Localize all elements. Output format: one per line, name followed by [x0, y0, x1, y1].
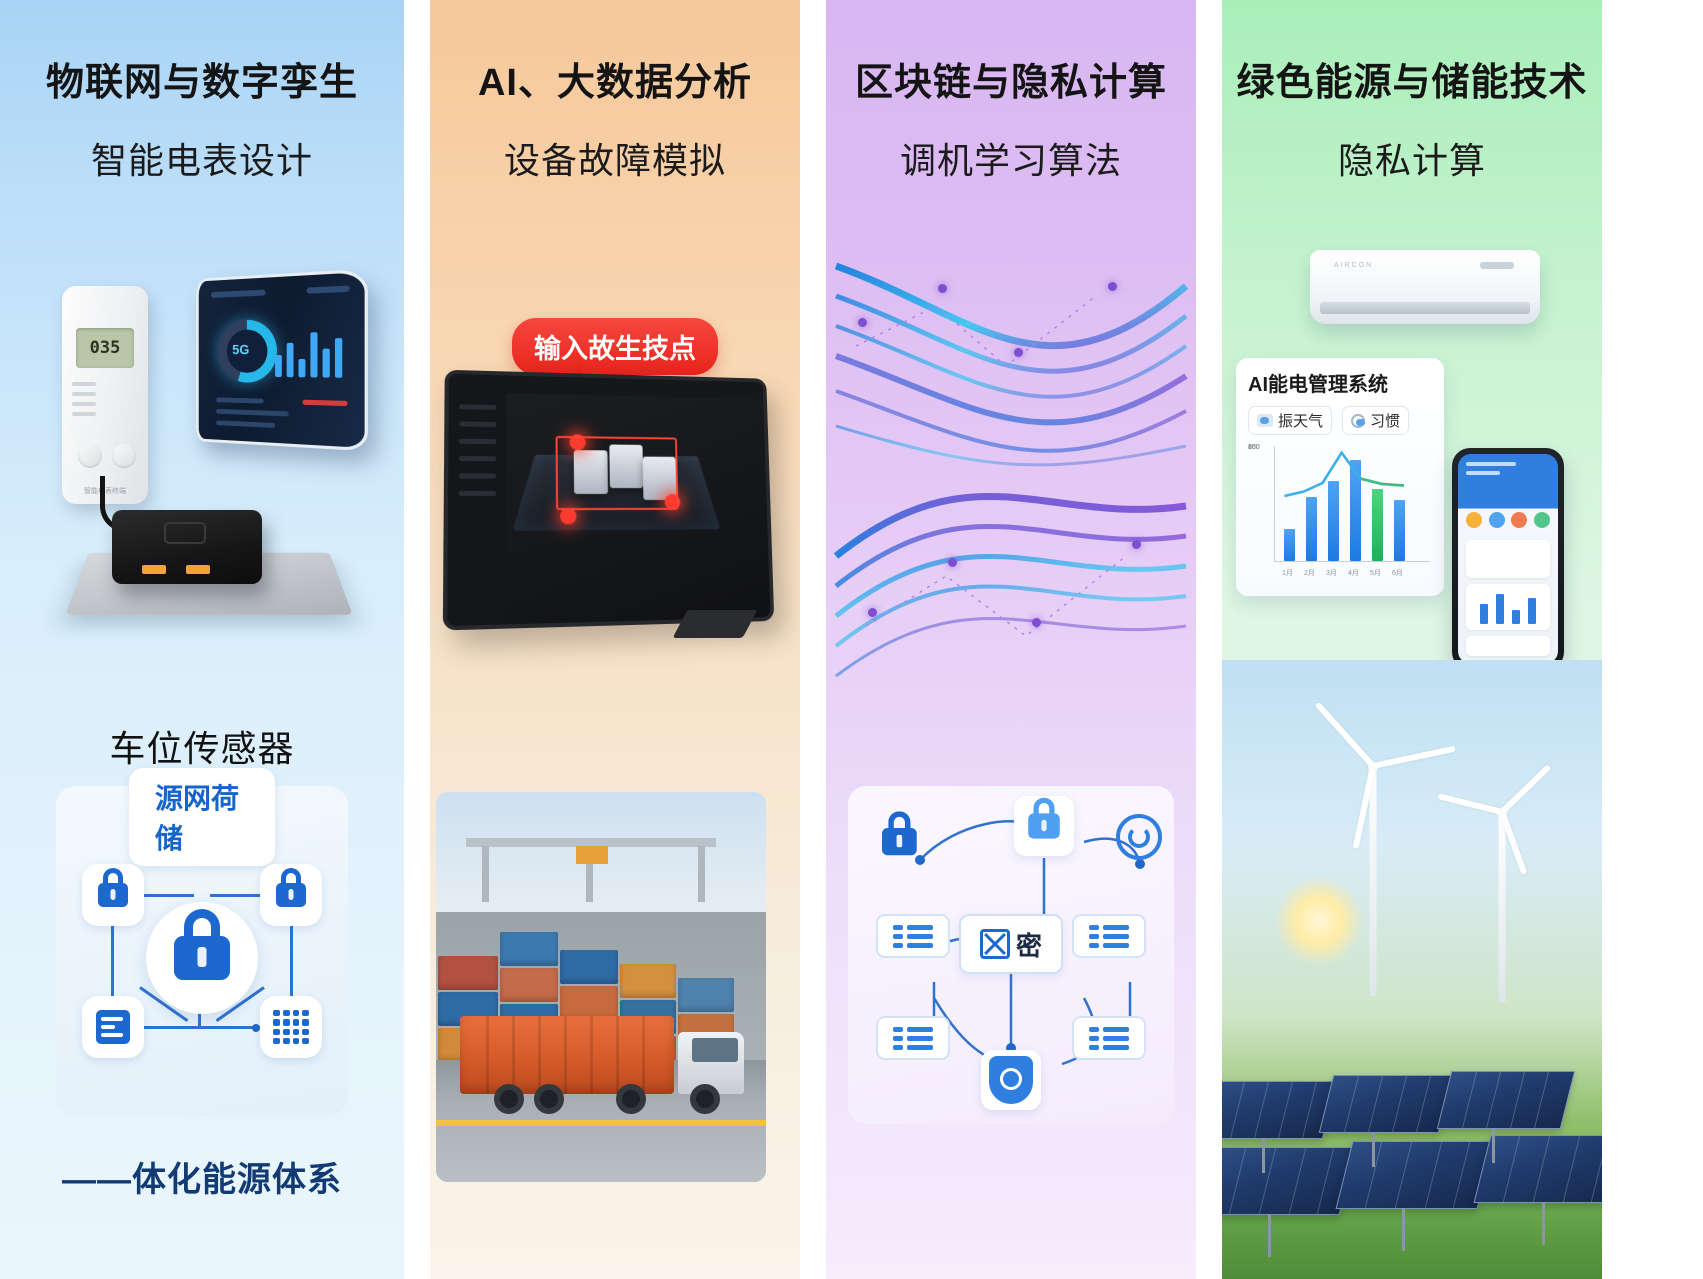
lock-icon-node-tl[interactable] [82, 864, 144, 926]
solar-panel [1437, 1071, 1575, 1129]
gateway-port-right [186, 565, 210, 574]
shield-icon-node[interactable] [981, 1050, 1041, 1110]
truck-wheel-3 [616, 1084, 646, 1114]
container [620, 964, 676, 998]
dashboard-gauge-value: 5G [232, 341, 249, 357]
poster-board: 物联网与数字孪生 智能电表设计 035 智能电表终端 5G [0, 0, 1703, 1279]
port-logistics-photo [436, 792, 766, 1182]
chip-weather[interactable]: 振天气 [1248, 406, 1332, 435]
curved-dashboard-screen: 5G [196, 269, 368, 452]
panel-1-subtitle: 智能电表设计 [0, 140, 404, 181]
dashboard-header-bar-right [306, 285, 349, 293]
energy-usage-chart: 200 160 150 100 60 30 1月 2月 3月 [1248, 444, 1432, 582]
edge-dot-4 [252, 1024, 260, 1032]
container [500, 932, 558, 966]
records-icon [893, 1027, 933, 1050]
dashboard-alert-row [302, 400, 347, 406]
records-icon [1089, 925, 1129, 948]
spiral-icon-node[interactable] [1116, 814, 1162, 860]
network-node [1132, 540, 1141, 549]
encryption-core-label: 密 [1016, 926, 1042, 963]
x-tick-2: 2月 [1304, 568, 1315, 578]
lock-icon-node-top[interactable] [1014, 796, 1074, 856]
ac-vent-icon [1320, 302, 1530, 314]
chip-habit[interactable]: 习惯 [1342, 406, 1409, 435]
solar-panel [1336, 1141, 1495, 1209]
phone-header [1466, 462, 1550, 502]
renewable-energy-photo [1222, 660, 1602, 1279]
truck-window [692, 1038, 738, 1062]
phone-quick-actions[interactable] [1466, 512, 1550, 528]
y-tick-5: 30 [1248, 444, 1256, 451]
panel-2-headings: AI、大数据分析 设备故障模拟 [430, 0, 800, 181]
edge-left-vertical [111, 926, 114, 996]
meter-display-value: 035 [76, 328, 134, 368]
turbine-blade [1315, 702, 1376, 768]
server-icon-node[interactable] [82, 996, 144, 1058]
truck-container-body [460, 1016, 674, 1094]
network-node [1032, 618, 1041, 627]
gateway-lid-icon [164, 522, 206, 544]
lock-icon-node-left[interactable] [882, 828, 938, 877]
chart-x-axis [1274, 561, 1430, 562]
column-gap-1 [404, 0, 430, 1279]
dashboard-row-2 [216, 409, 288, 417]
blockchain-swirl-svg [826, 226, 1196, 696]
panel-green-energy: 绿色能源与储能技术 隐私计算 AIRCON AI能电管理系统 振天气 习惯 [1222, 0, 1602, 1279]
solar-panel-array [1222, 1029, 1602, 1279]
panel-3-title: 区块链与隐私计算 [826, 62, 1196, 106]
lock-icon [1028, 813, 1060, 838]
panel-1-title: 物联网与数字孪生 [0, 62, 404, 106]
panel-iot-digital-twin: 物联网与数字孪生 智能电表设计 035 智能电表终端 5G [0, 0, 404, 1279]
crane-cabin [576, 846, 608, 864]
network-node [948, 558, 957, 567]
panel-4-headings: 绿色能源与储能技术 隐私计算 [1222, 0, 1602, 181]
phone-card-3 [1466, 636, 1550, 656]
lock-icon [276, 883, 306, 907]
data-record-node-bottom-left[interactable] [876, 1016, 950, 1060]
container [500, 968, 558, 1002]
x-tick-4: 4月 [1348, 568, 1359, 578]
server-icon [96, 1010, 130, 1044]
ai-panel-title: AI能电管理系统 [1248, 368, 1432, 397]
grid-icon [273, 1010, 309, 1044]
turbine-blade [1372, 746, 1455, 769]
panel-ai-bigdata: AI、大数据分析 设备故障模拟 输入故生技点 通关数据实时共享 [430, 0, 800, 1279]
encryption-core-node[interactable]: 密 [959, 914, 1063, 974]
phone-card-2 [1466, 584, 1550, 630]
turbine-blade [1500, 764, 1552, 814]
data-record-node-right[interactable] [1072, 914, 1146, 958]
mobile-app-phone[interactable] [1452, 448, 1564, 670]
column-gap-3 [1196, 0, 1222, 1279]
weather-icon [1257, 414, 1273, 427]
panel-1-headings: 物联网与数字孪生 智能电表设计 [0, 0, 404, 181]
x-tick-5: 5月 [1370, 568, 1381, 578]
panel-2-title: AI、大数据分析 [430, 62, 800, 106]
ai-energy-management-panel: AI能电管理系统 振天气 习惯 200 160 150 100 60 [1236, 358, 1444, 596]
panel-4-subtitle: 隐私计算 [1222, 140, 1602, 181]
panel-leg [1268, 1215, 1271, 1257]
smart-meter-device: 035 智能电表终端 [62, 286, 148, 504]
lock-icon-large [174, 936, 230, 980]
data-record-node-left[interactable] [876, 914, 950, 958]
edge-right-vertical [290, 926, 293, 996]
air-conditioner-unit: AIRCON [1310, 250, 1540, 324]
habit-icon [1351, 414, 1365, 428]
panel-1-mid-caption: 车位传感器 [0, 720, 404, 772]
network-node [868, 608, 877, 617]
chip-habit-label: 习惯 [1370, 410, 1400, 431]
data-record-node-bottom-right[interactable] [1072, 1016, 1146, 1060]
fault-callout-badge[interactable]: 输入故生技点 [512, 318, 718, 375]
dashboard-header-bar [211, 290, 266, 298]
panel-leg [1262, 1139, 1265, 1173]
phone-card-1 [1466, 540, 1550, 578]
energy-network-diagram [74, 848, 330, 1102]
ai-panel-chips: 振天气 习惯 [1248, 406, 1432, 435]
network-node [858, 318, 867, 327]
container [678, 978, 734, 1012]
meter-buttons[interactable] [78, 444, 136, 468]
simulation-tablet [443, 370, 774, 631]
road-marking [436, 1120, 766, 1126]
records-icon [1089, 1027, 1129, 1050]
energy-network-card: 源网荷储 [56, 786, 348, 1116]
ac-display-icon [1480, 262, 1514, 269]
panel-blockchain-privacy: 区块链与隐私计算 调机学习算法 [826, 0, 1196, 1279]
tablet-sidebar[interactable] [447, 392, 507, 626]
solar-panel [1319, 1075, 1453, 1133]
edge-tl-center [140, 894, 194, 897]
panel-4-title: 绿色能源与储能技术 [1222, 62, 1602, 106]
dashboard-bar-chart [275, 321, 347, 378]
wind-turbine-2 [1450, 786, 1554, 1002]
dashboard-row-1 [216, 397, 263, 403]
panel-1-bottom-text: ——体化能源体系 [0, 1152, 404, 1201]
tablet-stand [673, 610, 758, 638]
ac-brand-label: AIRCON [1334, 262, 1373, 269]
turbine-blade [1437, 793, 1502, 815]
lock-icon [882, 828, 917, 855]
spiral-icon [1116, 814, 1162, 860]
fault-glow-point-3 [560, 508, 576, 524]
panel-leg [1402, 1209, 1405, 1251]
wind-turbine-1 [1308, 736, 1438, 996]
trusted-exchange-diagram-card: 密 [848, 786, 1174, 1124]
container [438, 956, 498, 990]
turbine-mast [1370, 764, 1377, 996]
shield-icon [989, 1056, 1033, 1104]
panel-leg [1372, 1133, 1375, 1167]
central-lock-node[interactable] [146, 902, 258, 1014]
network-node [1108, 282, 1117, 291]
phone-screen [1458, 454, 1558, 664]
smart-meter-illustration: 035 智能电表终端 5G [0, 238, 404, 668]
truck-wheel-4 [690, 1084, 720, 1114]
panel-leg [1542, 1203, 1545, 1245]
encrypt-x-icon [980, 929, 1010, 959]
lock-icon-node-tr[interactable] [260, 864, 322, 926]
panel-3-subtitle: 调机学习算法 [826, 140, 1196, 181]
grid-icon-node[interactable] [260, 996, 322, 1058]
container-truck [460, 1008, 744, 1120]
truck-wheel-1 [494, 1084, 524, 1114]
network-node [938, 284, 947, 293]
meter-vents-icon [72, 382, 96, 426]
panel-3-headings: 区块链与隐私计算 调机学习算法 [826, 0, 1196, 181]
dashboard-row-3 [216, 420, 275, 428]
fault-path-outline [556, 436, 679, 510]
gateway-port-left [142, 565, 166, 574]
truck-wheel-2 [534, 1084, 564, 1114]
x-tick-3: 3月 [1326, 568, 1337, 578]
column-gap-2 [800, 0, 826, 1279]
trend-line [1274, 444, 1430, 546]
network-node [1014, 348, 1023, 357]
container [560, 950, 618, 984]
x-tick-1: 1月 [1282, 568, 1293, 578]
records-icon [893, 925, 933, 948]
lock-icon [98, 883, 128, 907]
panel-leg [1492, 1129, 1495, 1163]
gantry-crane [466, 812, 716, 882]
x-tick-6: 6月 [1392, 568, 1403, 578]
data-flow-artwork [826, 226, 1196, 696]
edge-center-tr [210, 894, 264, 897]
panel-2-subtitle: 设备故障模拟 [430, 140, 800, 181]
chip-weather-label: 振天气 [1278, 410, 1323, 431]
turbine-mast [1499, 816, 1506, 1002]
parking-sensor-gateway [112, 510, 262, 584]
